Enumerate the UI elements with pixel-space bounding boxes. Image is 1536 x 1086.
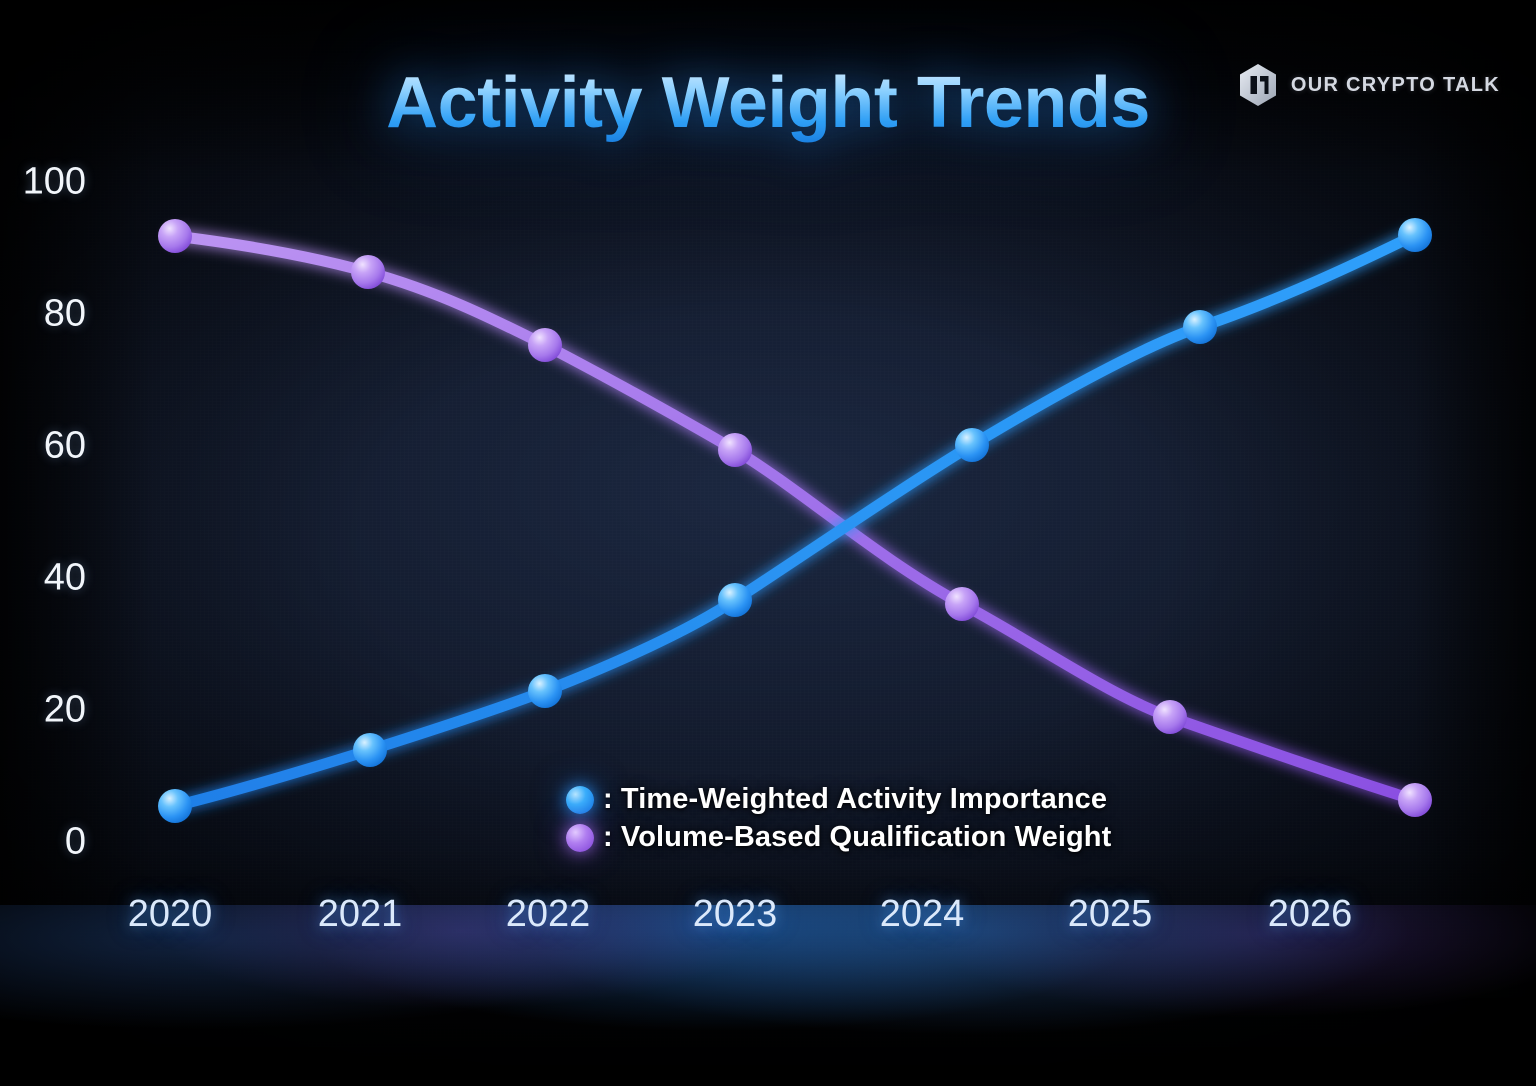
- y-tick-label-40: 40: [0, 557, 86, 600]
- x-tick-label-2024: 2024: [880, 893, 965, 936]
- x-tick-label-2026: 2026: [1268, 893, 1353, 936]
- legend-label: : Time-Weighted Activity Importance: [603, 783, 1107, 816]
- legend-item-volume-based-qualification-weight: : Volume-Based Qualification Weight: [566, 821, 1111, 854]
- x-tick-label-2023: 2023: [693, 893, 778, 936]
- x-tick-label-2021: 2021: [318, 893, 403, 936]
- legend-label: : Volume-Based Qualification Weight: [603, 821, 1111, 854]
- series-line-time-weighted-activity-importance: [175, 235, 1415, 806]
- x-tick-label-2020: 2020: [128, 893, 213, 936]
- y-tick-label-80: 80: [0, 293, 86, 336]
- y-tick-label-0: 0: [0, 821, 86, 864]
- y-tick-label-60: 60: [0, 425, 86, 468]
- chart-legend: : Time-Weighted Activity Importance : Vo…: [566, 783, 1111, 854]
- x-tick-label-2022: 2022: [506, 893, 591, 936]
- blue-dot-icon: [566, 786, 594, 814]
- chart-canvas: OUR CRYPTO TALK Activity Weight Trends: [0, 0, 1536, 1086]
- legend-item-time-weighted-activity-importance: : Time-Weighted Activity Importance: [566, 783, 1111, 816]
- x-tick-label-2025: 2025: [1068, 893, 1153, 936]
- y-tick-label-20: 20: [0, 689, 86, 732]
- y-tick-label-100: 100: [0, 161, 86, 204]
- purple-dot-icon: [566, 824, 594, 852]
